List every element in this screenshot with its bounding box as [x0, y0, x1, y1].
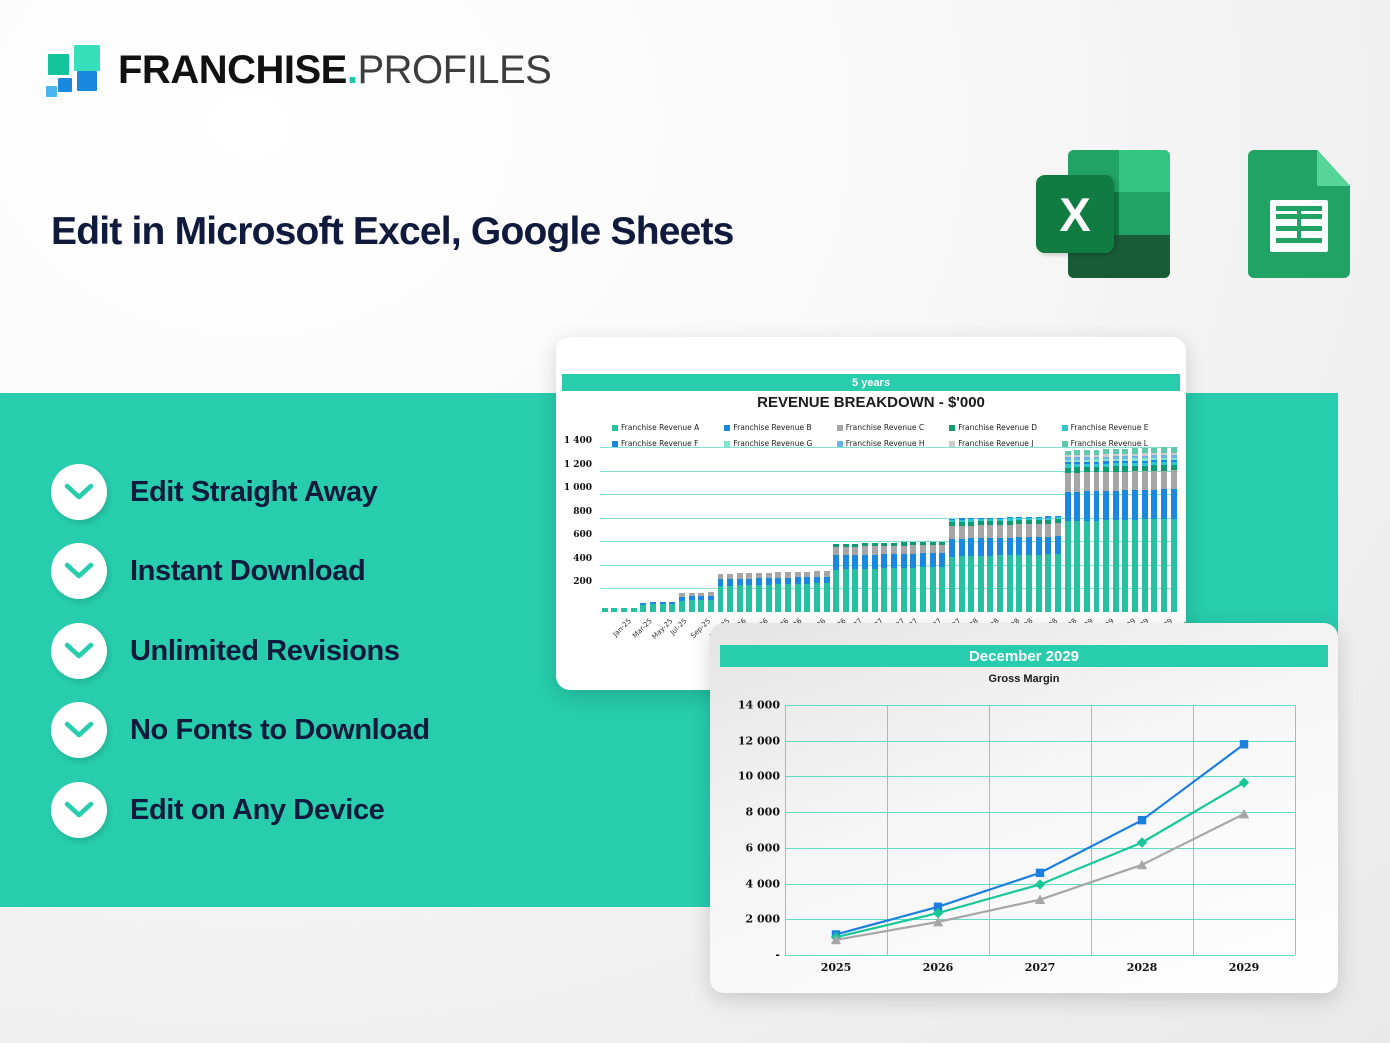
revenue-bar	[995, 447, 1005, 612]
gross-margin-y-tick: 12 000	[738, 734, 780, 747]
revenue-y-tick: 1 400	[564, 436, 592, 446]
feature-label-3: No Fonts to Download	[130, 714, 430, 747]
legend-item[interactable]: Franchise Revenue A	[612, 421, 724, 434]
revenue-period-label: 5 years	[852, 377, 890, 389]
google-sheets-icon	[1248, 150, 1350, 278]
legend-swatch	[724, 441, 730, 447]
revenue-bar	[677, 447, 687, 612]
legend-swatch	[1062, 441, 1068, 447]
gross-margin-y-axis: -2 0004 0006 0008 00010 00012 00014 000	[710, 705, 780, 955]
gross-margin-subtitle: Gross Margin	[710, 673, 1338, 685]
revenue-bar	[774, 447, 784, 612]
revenue-bar	[793, 447, 803, 612]
revenue-bar	[899, 447, 909, 612]
feature-item-2[interactable]: Unlimited Revisions	[51, 623, 400, 679]
legend-label: Franchise Revenue E	[1071, 423, 1149, 432]
gross-margin-x-tick: 2026	[923, 961, 954, 974]
revenue-bar	[1043, 447, 1053, 612]
revenue-bar	[1140, 447, 1150, 612]
revenue-bar	[1063, 447, 1073, 612]
brand-wordmark: FRANCHISE.PROFILES	[118, 50, 551, 90]
revenue-bar	[754, 447, 764, 612]
legend-swatch	[612, 441, 618, 447]
gross-margin-x-tick: 2029	[1229, 961, 1260, 974]
gross-margin-x-axis: 20252026202720282029	[785, 961, 1295, 981]
revenue-bar	[812, 447, 822, 612]
brand-name-bold: FRANCHISE	[118, 48, 347, 92]
revenue-bar	[966, 447, 976, 612]
revenue-bar	[783, 447, 793, 612]
data-point-marker	[1239, 777, 1249, 787]
revenue-bar	[716, 447, 726, 612]
revenue-bar	[822, 447, 832, 612]
gross-margin-x-tick: 2028	[1127, 961, 1158, 974]
chevron-down-icon	[51, 623, 107, 679]
revenue-y-tick: 400	[573, 554, 592, 564]
revenue-bar	[957, 447, 967, 612]
gross-margin-series	[785, 705, 1295, 955]
revenue-bar	[667, 447, 677, 612]
legend-label: Franchise Revenue D	[958, 423, 1037, 432]
gross-margin-card[interactable]: December 2029 Gross Margin -2 0004 0006 …	[710, 623, 1338, 993]
legend-item[interactable]: Franchise Revenue D	[949, 421, 1061, 434]
gross-margin-y-tick: 6 000	[746, 841, 780, 854]
gross-margin-period-label: December 2029	[969, 648, 1079, 665]
revenue-chart-title: REVENUE BREAKDOWN - $'000	[556, 394, 1186, 411]
revenue-x-tick: Jan-25	[611, 617, 632, 638]
brand-logo[interactable]: FRANCHISE.PROFILES	[46, 44, 551, 96]
gross-margin-y-tick: 14 000	[738, 699, 780, 712]
revenue-bar	[1169, 447, 1179, 612]
data-point-marker	[1036, 869, 1044, 877]
revenue-bar	[870, 447, 880, 612]
revenue-bar	[600, 447, 610, 612]
revenue-bar	[1150, 447, 1160, 612]
legend-item[interactable]: Franchise Revenue E	[1062, 421, 1174, 434]
revenue-bar	[619, 447, 629, 612]
revenue-bar	[745, 447, 755, 612]
brand-name-light: PROFILES	[357, 48, 551, 92]
revenue-y-tick: 200	[573, 577, 592, 587]
logo-mark-icon	[46, 44, 102, 96]
gross-margin-y-tick: 4 000	[746, 877, 780, 890]
revenue-bar	[851, 447, 861, 612]
data-point-marker	[1138, 816, 1146, 824]
revenue-bar	[986, 447, 996, 612]
revenue-chart-legend: Franchise Revenue AFranchise Revenue BFr…	[612, 421, 1174, 450]
revenue-bar	[918, 447, 928, 612]
feature-label-2: Unlimited Revisions	[130, 635, 400, 668]
revenue-y-tick: 1 200	[564, 460, 592, 470]
data-point-marker	[1137, 837, 1147, 847]
revenue-bar	[706, 447, 716, 612]
revenue-bar	[1111, 447, 1121, 612]
legend-swatch	[837, 425, 843, 431]
revenue-y-axis: 2004006008001 0001 2001 400	[556, 441, 592, 611]
revenue-bar	[1034, 447, 1044, 612]
revenue-x-tick: Sep-25	[689, 617, 712, 640]
revenue-bar	[735, 447, 745, 612]
revenue-bar	[889, 447, 899, 612]
gross-margin-y-tick: 2 000	[746, 913, 780, 926]
gross-margin-period-badge: December 2029	[720, 645, 1328, 667]
chevron-down-icon	[51, 464, 107, 520]
revenue-bars	[600, 447, 1178, 612]
revenue-bar	[928, 447, 938, 612]
legend-item[interactable]: Franchise Revenue C	[837, 421, 949, 434]
revenue-bar	[937, 447, 947, 612]
brand-name-dot: .	[347, 48, 358, 92]
legend-swatch	[1062, 425, 1068, 431]
revenue-bar	[802, 447, 812, 612]
legend-label: Franchise Revenue B	[733, 423, 811, 432]
revenue-bar	[1053, 447, 1063, 612]
revenue-bar	[1082, 447, 1092, 612]
revenue-bar	[860, 447, 870, 612]
revenue-y-tick: 800	[573, 507, 592, 517]
revenue-bar	[639, 447, 649, 612]
gross-margin-x-tick: 2027	[1025, 961, 1056, 974]
feature-item-4[interactable]: Edit on Any Device	[51, 782, 384, 838]
revenue-bar	[648, 447, 658, 612]
excel-letter: X	[1059, 191, 1090, 238]
revenue-bar	[1092, 447, 1102, 612]
revenue-bar	[629, 447, 639, 612]
revenue-bar	[1024, 447, 1034, 612]
feature-item-1[interactable]: Instant Download	[51, 543, 365, 599]
legend-item[interactable]: Franchise Revenue B	[724, 421, 836, 434]
revenue-x-tick: Mar-25	[631, 617, 654, 640]
gross-margin-x-tick: 2025	[821, 961, 852, 974]
legend-swatch	[837, 441, 843, 447]
legend-swatch	[612, 425, 618, 431]
revenue-bar	[1159, 447, 1169, 612]
revenue-bar	[880, 447, 890, 612]
gross-margin-y-tick: -	[775, 949, 780, 962]
revenue-bar	[909, 447, 919, 612]
revenue-bar	[1015, 447, 1025, 612]
revenue-bar	[725, 447, 735, 612]
revenue-bar	[610, 447, 620, 612]
data-point-marker	[1035, 879, 1045, 889]
legend-label: Franchise Revenue A	[621, 423, 699, 432]
revenue-bar	[1072, 447, 1082, 612]
data-point-marker	[1239, 809, 1249, 818]
gross-margin-y-tick: 8 000	[746, 806, 780, 819]
legend-swatch	[724, 425, 730, 431]
app-icons-group: X	[1036, 150, 1350, 278]
revenue-bar	[696, 447, 706, 612]
feature-item-0[interactable]: Edit Straight Away	[51, 464, 377, 520]
data-point-marker	[1137, 860, 1147, 869]
feature-label-1: Instant Download	[130, 555, 365, 588]
revenue-period-badge: 5 years	[562, 374, 1180, 391]
revenue-bar	[976, 447, 986, 612]
gross-margin-y-tick: 10 000	[738, 770, 780, 783]
chevron-down-icon	[51, 782, 107, 838]
gross-margin-plot	[785, 705, 1295, 955]
revenue-y-tick: 600	[573, 530, 592, 540]
data-point-marker	[1240, 740, 1248, 748]
revenue-bar	[1005, 447, 1015, 612]
revenue-bar	[947, 447, 957, 612]
revenue-bar	[1121, 447, 1131, 612]
microsoft-excel-icon: X	[1036, 150, 1170, 278]
poster-root: FRANCHISE.PROFILES Edit in Microsoft Exc…	[0, 0, 1390, 1043]
feature-item-3[interactable]: No Fonts to Download	[51, 702, 430, 758]
revenue-bar	[764, 447, 774, 612]
chevron-down-icon	[51, 702, 107, 758]
revenue-y-tick: 1 000	[564, 483, 592, 493]
legend-label: Franchise Revenue C	[846, 423, 924, 432]
legend-swatch	[949, 441, 955, 447]
page-title: Edit in Microsoft Excel, Google Sheets	[51, 210, 734, 254]
revenue-bar	[841, 447, 851, 612]
revenue-bar	[1130, 447, 1140, 612]
revenue-bar	[687, 447, 697, 612]
revenue-bar	[831, 447, 841, 612]
revenue-bar	[658, 447, 668, 612]
chevron-down-icon	[51, 543, 107, 599]
feature-label-4: Edit on Any Device	[130, 794, 384, 827]
revenue-bar	[1101, 447, 1111, 612]
feature-label-0: Edit Straight Away	[130, 476, 377, 509]
legend-swatch	[949, 425, 955, 431]
